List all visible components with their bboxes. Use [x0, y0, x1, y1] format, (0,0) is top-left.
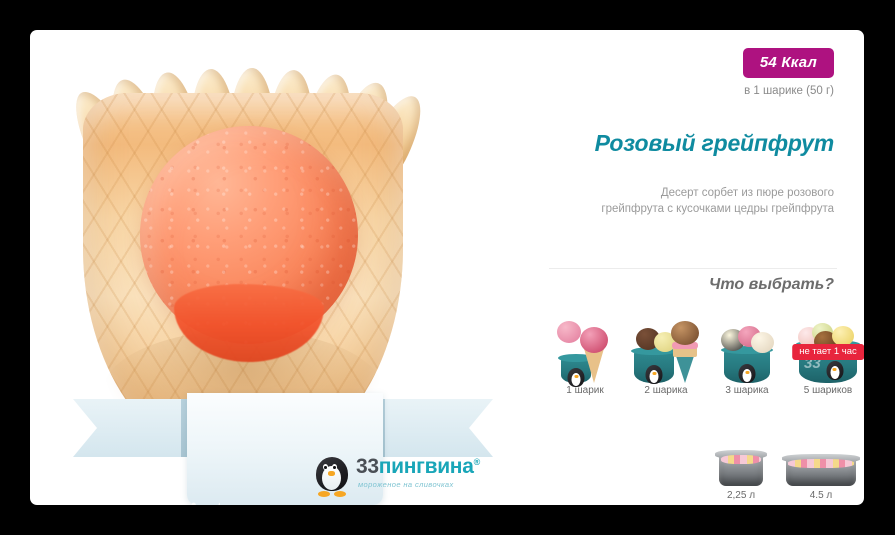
calorie-note: в 1 шарике (50 г): [743, 85, 834, 97]
option-label: 3 шарика: [711, 385, 783, 396]
option-tub-2-25l[interactable]: 2,25 л: [705, 426, 777, 501]
option-5-scoops[interactable]: 33 5 шариков не тает 1 час: [792, 313, 864, 396]
option-1-scoop-art: [549, 313, 621, 383]
calorie-badge: 54 Ккал: [743, 48, 834, 78]
option-label: 1 шарик: [549, 385, 621, 396]
section-divider: [549, 268, 837, 269]
option-tub-4-5l[interactable]: 4.5 л: [785, 426, 857, 501]
option-3-scoops-art: [711, 313, 783, 383]
page-title: Розовый грейпфрут: [595, 130, 834, 157]
scoop-options-row: 1 шарик: [549, 313, 864, 396]
brand-name: 33пингвина®: [356, 455, 480, 479]
brand-tagline: мороженое на сливочках: [358, 480, 454, 489]
ribbon-center-panel: 33пингвина® мороженое на сливочках: [187, 393, 383, 505]
option-label: 2 шарика: [630, 385, 702, 396]
calorie-block: 54 Ккал в 1 шарике (50 г): [743, 48, 834, 97]
option-label: 5 шариков: [792, 385, 864, 396]
product-info-panel: 54 Ккал в 1 шарике (50 г) Розовый грейпф…: [535, 30, 864, 505]
option-2-scoops[interactable]: 2 шарика: [630, 313, 702, 396]
option-label: 4.5 л: [785, 490, 857, 501]
product-description: Десерт сорбет из пюре розового грейпфрут…: [598, 185, 834, 217]
photo-speckle-artifact: [70, 500, 220, 505]
penguin-icon: [314, 457, 350, 495]
brand-ribbon: 33пингвина® мороженое на сливочках: [73, 393, 493, 505]
brand-name-number: 33: [356, 455, 379, 478]
screenshot-stage: 33пингвина® мороженое на сливочках 54 Кк…: [0, 0, 895, 535]
option-1-scoop[interactable]: 1 шарик: [549, 313, 621, 396]
registered-mark: ®: [474, 457, 480, 467]
no-melt-badge: не тает 1 час: [792, 344, 864, 360]
product-card: 33пингвина® мороженое на сливочках 54 Кк…: [30, 30, 864, 505]
brand-logo: 33пингвина® мороженое на сливочках: [314, 455, 486, 497]
brand-name-word: пингвина: [379, 455, 474, 478]
option-tub-2-25l-art: [705, 426, 777, 488]
choose-heading: Что выбрать?: [709, 276, 834, 294]
option-label: 2,25 л: [705, 490, 777, 501]
product-photo: 33пингвина® мороженое на сливочках: [30, 30, 535, 505]
option-tub-4-5l-art: [785, 426, 857, 488]
tub-options-row: 2,25 л 4.5 л: [705, 426, 857, 501]
option-3-scoops[interactable]: 3 шарика: [711, 313, 783, 396]
option-2-scoops-art: [630, 313, 702, 383]
